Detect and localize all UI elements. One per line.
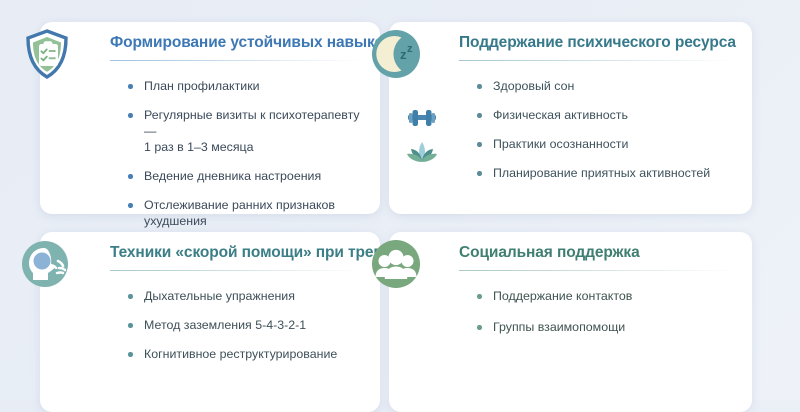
infographic-board: Формирование устойчивых навыков План про… [0, 0, 800, 400]
list-item: План профилактики [128, 78, 366, 94]
card-social-support: Социальная поддержка Поддержание контакт… [389, 232, 752, 412]
title-divider [459, 270, 735, 271]
svg-text:z: z [400, 47, 407, 62]
people-group-icon [367, 235, 425, 293]
card-title: Поддержание психического ресурса [459, 34, 736, 52]
list-item: Планирование приятных активностей [477, 165, 738, 181]
card-header: Формирование устойчивых навыков [40, 22, 380, 74]
card-emergency-techniques: Техники «скорой помощи» при тревоге Дыха… [40, 232, 380, 412]
list-item: Регулярные визиты к психотерапевту — 1 р… [128, 107, 366, 155]
card-mental-resource: z z Поддержание психического ресурса [389, 22, 752, 214]
card-header: z z Поддержание психического ресурса [389, 22, 752, 74]
card-title: Социальная поддержка [459, 244, 640, 262]
list-item: Здоровый сон [477, 78, 738, 94]
card-habits: Формирование устойчивых навыков План про… [40, 22, 380, 214]
list-item: Поддержание контактов [477, 288, 738, 304]
moon-sleep-icon: z z [367, 25, 425, 83]
bullet-list: Дыхательные упражнения Метод заземления … [128, 288, 366, 375]
list-item: Физическая активность [477, 107, 738, 123]
dumbbell-icon [405, 102, 439, 136]
bullet-list: Поддержание контактов Группы взаимопомощ… [477, 288, 738, 350]
list-item: Отслеживание ранних признаков ухудшения [128, 197, 366, 229]
card-title: Формирование устойчивых навыков [110, 34, 393, 52]
list-item: Практики осознанности [477, 136, 738, 152]
lotus-icon [405, 136, 439, 170]
breathing-head-icon [18, 235, 76, 293]
bullet-list: Здоровый сон Физическая активность Практ… [477, 78, 738, 194]
title-divider [459, 60, 735, 61]
list-item: Метод заземления 5-4-3-2-1 [128, 317, 366, 333]
bullet-list: План профилактики Регулярные визиты к пс… [128, 78, 366, 242]
shield-checklist-icon [18, 25, 76, 83]
card-title: Техники «скорой помощи» при тревоге [110, 244, 407, 262]
list-item: Группы взаимопомощи [477, 319, 738, 335]
list-item: Дыхательные упражнения [128, 288, 366, 304]
title-divider [110, 60, 362, 61]
title-divider [110, 270, 362, 271]
list-item: Ведение дневника настроения [128, 168, 366, 184]
list-item: Когнитивное реструктурирование [128, 346, 366, 362]
card-header: Социальная поддержка [389, 232, 752, 284]
card-header: Техники «скорой помощи» при тревоге [40, 232, 380, 284]
svg-text:z: z [407, 43, 413, 55]
